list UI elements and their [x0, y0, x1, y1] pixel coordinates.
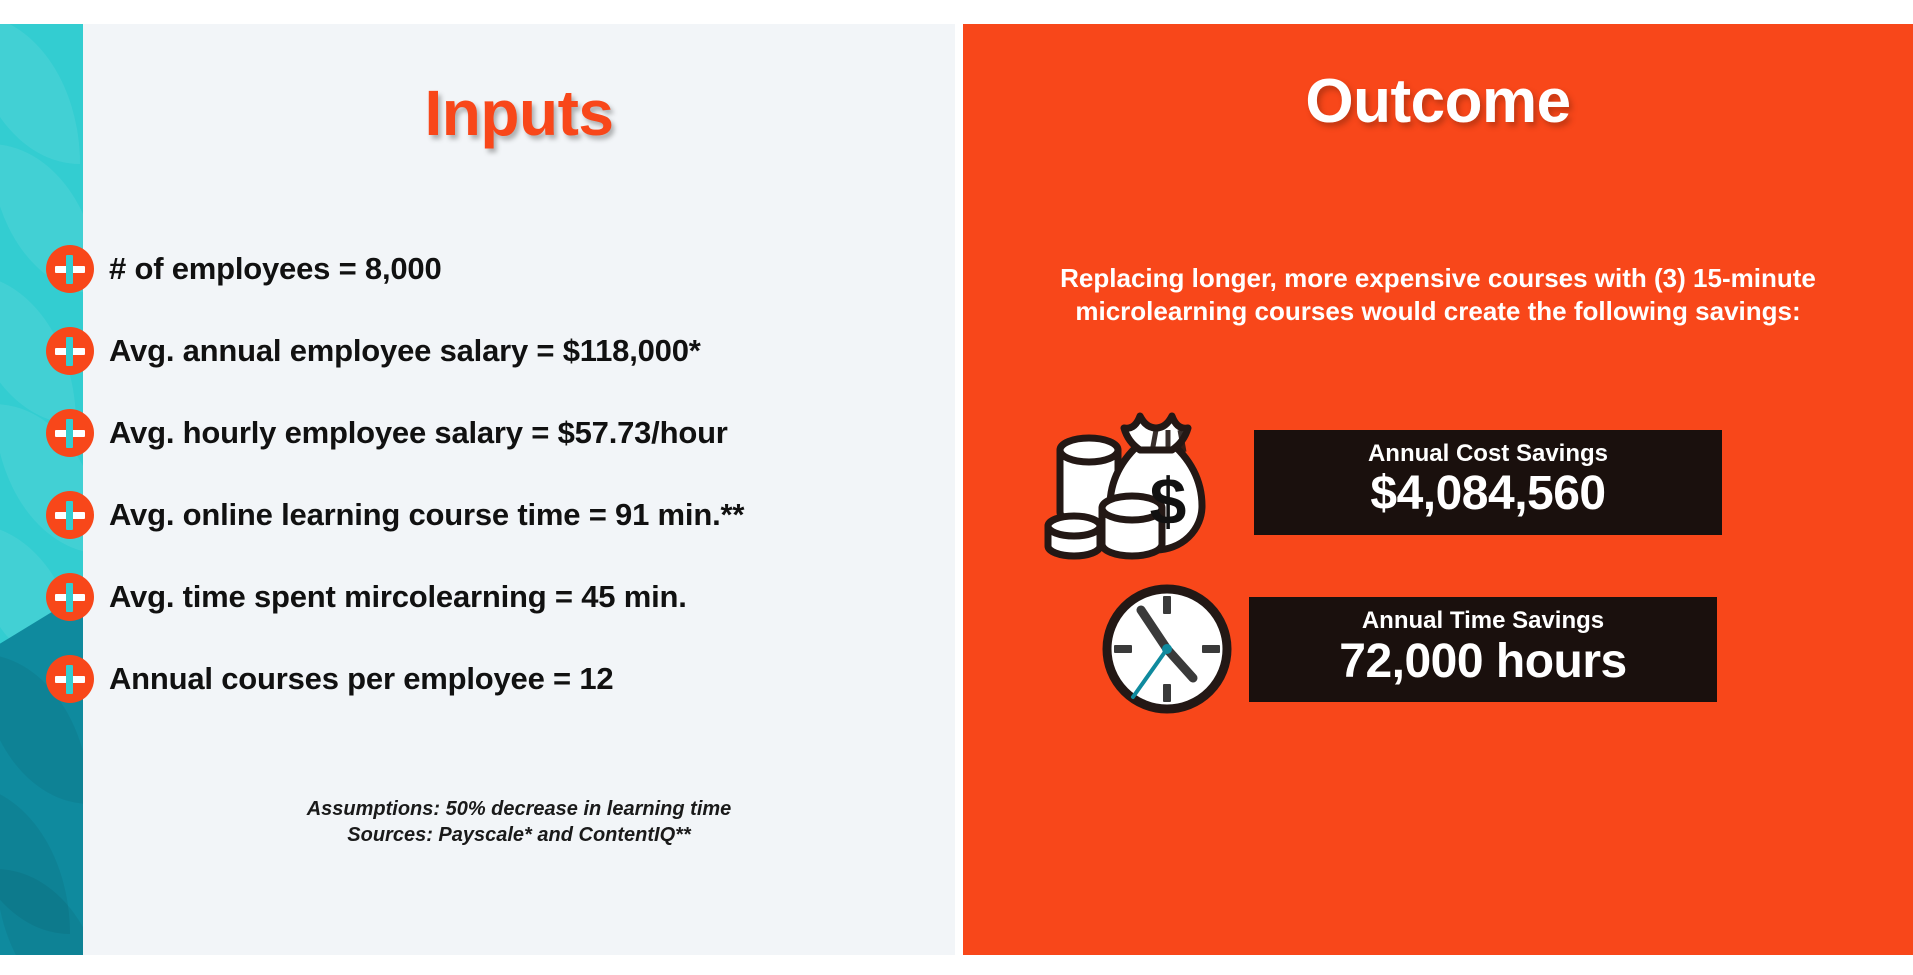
- list-item: Avg. time spent mircolearning = 45 min.: [46, 576, 946, 618]
- outcome-description: Replacing longer, more expensive courses…: [1038, 262, 1838, 329]
- list-item-label: Avg. hourly employee salary = $57.73/hou…: [109, 415, 728, 451]
- list-item-label: Avg. online learning course time = 91 mi…: [109, 497, 744, 533]
- clock-icon: [1100, 582, 1235, 717]
- list-item: Annual courses per employee = 12: [46, 658, 946, 700]
- annual-time-savings-card: Annual Time Savings 72,000 hours: [1249, 597, 1717, 702]
- card-label: Annual Time Savings: [1362, 607, 1604, 634]
- plus-icon-vertical: [66, 255, 73, 284]
- plus-icon: [46, 327, 94, 375]
- plus-icon-vertical: [66, 501, 73, 530]
- list-item-label: Annual courses per employee = 12: [109, 661, 613, 697]
- plus-icon: [46, 655, 94, 703]
- list-item: Avg. online learning course time = 91 mi…: [46, 494, 946, 536]
- inputs-title: Inputs: [83, 76, 955, 150]
- annual-cost-savings-card: Annual Cost Savings $4,084,560: [1254, 430, 1722, 535]
- list-item-label: Avg. annual employee salary = $118,000*: [109, 333, 701, 369]
- inputs-bullet-list: # of employees = 8,000 Avg. annual emplo…: [46, 248, 946, 740]
- footnotes: Assumptions: 50% decrease in learning ti…: [83, 796, 955, 849]
- outcome-panel: Outcome Replacing longer, more expensive…: [963, 24, 1913, 955]
- money-bag-icon: $: [1040, 402, 1240, 562]
- inputs-panel: Inputs # of employees = 8,000 Avg. annua…: [0, 24, 955, 955]
- plus-icon: [46, 491, 94, 539]
- plus-icon-vertical: [66, 337, 73, 366]
- outcome-title: Outcome: [963, 66, 1913, 137]
- list-item: Avg. hourly employee salary = $57.73/hou…: [46, 412, 946, 454]
- rail-leaf-shape: [0, 24, 80, 164]
- list-item: # of employees = 8,000: [46, 248, 946, 290]
- list-item-label: Avg. time spent mircolearning = 45 min.: [109, 579, 687, 615]
- card-value: 72,000 hours: [1339, 635, 1626, 688]
- infographic-canvas: Inputs # of employees = 8,000 Avg. annua…: [0, 0, 1913, 975]
- card-label: Annual Cost Savings: [1368, 440, 1608, 467]
- annual-cost-savings-row: $ Annual Cost Savings $4,084,560: [1040, 402, 1722, 562]
- plus-icon-vertical: [66, 665, 73, 694]
- annual-time-savings-row: Annual Time Savings 72,000 hours: [1100, 582, 1717, 717]
- footnote-assumptions: Assumptions: 50% decrease in learning ti…: [83, 796, 955, 822]
- plus-icon-vertical: [66, 419, 73, 448]
- plus-icon-vertical: [66, 583, 73, 612]
- list-item: Avg. annual employee salary = $118,000*: [46, 330, 946, 372]
- plus-icon: [46, 573, 94, 621]
- list-item-label: # of employees = 8,000: [109, 251, 441, 287]
- card-value: $4,084,560: [1370, 467, 1605, 520]
- plus-icon: [46, 409, 94, 457]
- svg-text:$: $: [1150, 464, 1187, 538]
- plus-icon: [46, 245, 94, 293]
- footnote-sources: Sources: Payscale* and ContentIQ**: [83, 822, 955, 848]
